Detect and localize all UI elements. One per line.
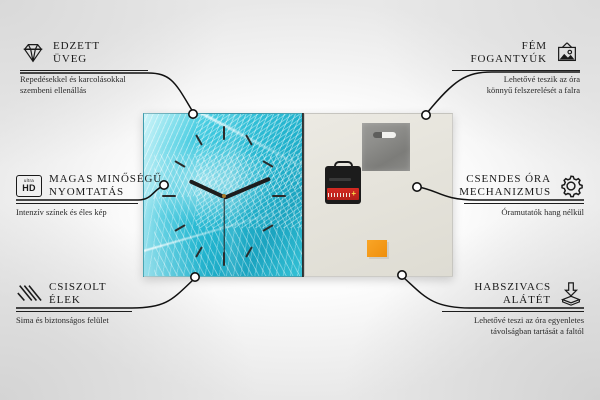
hanging-frame-icon xyxy=(554,40,580,66)
callout-description-line1: Lehetővé teszik az óra xyxy=(452,74,580,85)
callout-header: EDZETT ÜVEG xyxy=(20,40,148,66)
callout-title: FÉM FOGANTYÚK xyxy=(470,40,547,66)
callout-rule xyxy=(442,311,584,312)
clock-tick xyxy=(223,252,225,266)
clock-center-hub xyxy=(222,194,226,198)
quartz-mechanism-box: + xyxy=(325,166,361,204)
clock-tick xyxy=(162,195,176,197)
callout-title: EDZETT ÜVEG xyxy=(53,40,100,66)
ultra-hd-icon-large-text: HD xyxy=(22,184,35,194)
callout-foam-spacer[interactable]: HABSZIVACS ALÁTÉT Lehetővé teszi az óra … xyxy=(442,281,584,336)
callout-tempered-glass[interactable]: EDZETT ÜVEG Repedésekkel és karcolásokka… xyxy=(20,40,148,95)
metal-hanger-plate xyxy=(362,123,410,171)
callout-rule xyxy=(16,203,138,204)
callout-rule xyxy=(464,203,584,204)
glass-clock-front xyxy=(143,113,303,277)
callout-title: CSENDES ÓRA MECHANIZMUS xyxy=(459,173,551,199)
diagonal-lines-icon xyxy=(16,281,42,307)
battery-plus-marker: + xyxy=(351,190,356,198)
mechanism-notch xyxy=(329,178,351,181)
callout-silent-mechanism[interactable]: CSENDES ÓRA MECHANIZMUS Óramutatók hang … xyxy=(464,173,584,218)
callout-rule xyxy=(16,311,132,312)
clock-back-view: + xyxy=(304,113,453,277)
foam-pad-icon xyxy=(558,281,584,307)
callout-header: HABSZIVACS ALÁTÉT xyxy=(442,281,584,307)
callout-metal-handles[interactable]: FÉM FOGANTYÚK Lehetővé teszik az óra kön… xyxy=(452,40,580,95)
callout-description-line2: szembeni ellenállás xyxy=(20,85,148,96)
product-image: + xyxy=(143,113,453,277)
callout-polished-edges[interactable]: CSISZOLT ÉLEK Sima és biztonságos felüle… xyxy=(16,281,132,326)
callout-title: CSISZOLT ÉLEK xyxy=(49,281,107,307)
gear-icon xyxy=(558,173,584,199)
clock-second-hand xyxy=(223,197,224,253)
foam-pad xyxy=(367,240,387,257)
callout-title: HABSZIVACS ALÁTÉT xyxy=(474,281,551,307)
mechanism-hook xyxy=(334,161,353,171)
battery-label xyxy=(328,193,350,197)
callout-header: CSENDES ÓRA MECHANIZMUS xyxy=(464,173,584,199)
callout-description-line2: könnyű felszerelését a falra xyxy=(452,85,580,96)
callout-description-line1: Sima és biztonságos felület xyxy=(16,315,132,326)
infographic-canvas: + xyxy=(0,0,600,400)
callout-description-line1: Lehetővé teszi az óra egyenletes xyxy=(442,315,584,326)
callout-rule xyxy=(452,70,580,71)
diamond-icon xyxy=(20,40,46,66)
callout-header: ultra HD MAGAS MINŐSÉGŰ NYOMTATÁS xyxy=(16,173,138,199)
callout-description-line1: Intenzív színek és éles kép xyxy=(16,207,138,218)
hanger-slot xyxy=(373,132,396,138)
callout-description-line2: távolságban tartását a faltól xyxy=(442,326,584,337)
ultra-hd-icon: ultra HD xyxy=(16,175,42,197)
callout-high-quality-print[interactable]: ultra HD MAGAS MINŐSÉGŰ NYOMTATÁS Intenz… xyxy=(16,173,138,218)
callout-description-line1: Óramutatók hang nélkül xyxy=(464,207,584,218)
callout-rule xyxy=(20,70,148,71)
callout-description-line1: Repedésekkel és karcolásokkal xyxy=(20,74,148,85)
clock-tick xyxy=(272,195,286,197)
callout-title: MAGAS MINŐSÉGŰ NYOMTATÁS xyxy=(49,173,162,199)
clock-tick xyxy=(223,126,225,140)
battery: + xyxy=(327,188,359,200)
callout-header: FÉM FOGANTYÚK xyxy=(452,40,580,66)
callout-header: CSISZOLT ÉLEK xyxy=(16,281,132,307)
